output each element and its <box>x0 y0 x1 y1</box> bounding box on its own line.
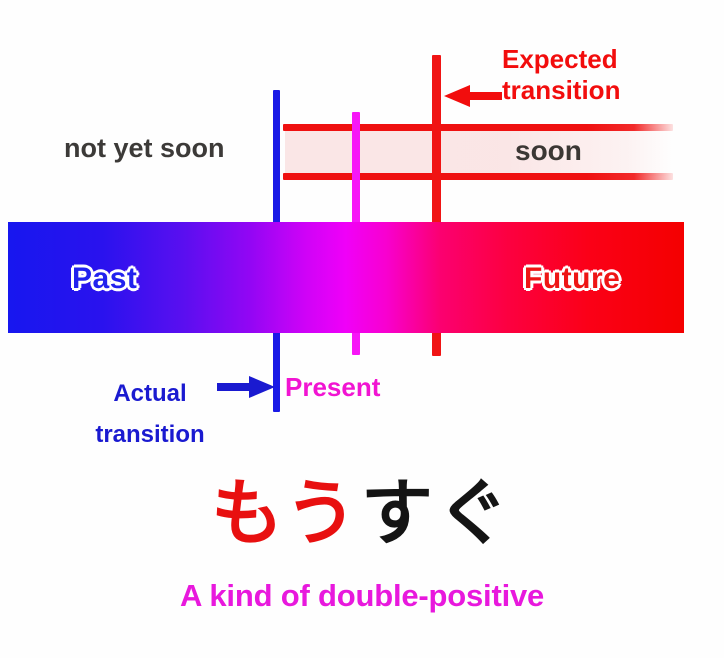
expected-transition-line1: Expected <box>502 44 620 75</box>
soon-band <box>283 124 673 180</box>
expected-transition-annotation: Expected transition <box>502 44 620 106</box>
actual-transition-annotation: Actual transition <box>70 373 230 455</box>
japanese-headline-mou: もう <box>211 471 361 555</box>
past-label: Past <box>72 262 137 296</box>
japanese-headline-sugu: すぐ <box>361 471 513 555</box>
right-arrow-icon <box>217 376 275 398</box>
caption: A kind of double-positive <box>0 578 724 614</box>
diagram-canvas: not yet soon soon Expected transition Pa… <box>0 0 724 658</box>
actual-transition-line2: transition <box>70 414 230 455</box>
soon-label: soon <box>515 135 582 167</box>
left-arrow-icon <box>444 85 502 107</box>
present-label: Present <box>285 372 380 403</box>
soon-band-fill <box>285 128 673 176</box>
japanese-headline: もうすぐ <box>0 472 724 554</box>
future-label: Future <box>524 262 620 296</box>
not-yet-soon-label: not yet soon <box>64 133 225 164</box>
actual-transition-line1: Actual <box>70 373 230 414</box>
soon-band-top-rule <box>283 124 673 131</box>
soon-band-bottom-rule <box>283 173 673 180</box>
expected-transition-line2: transition <box>502 75 620 106</box>
